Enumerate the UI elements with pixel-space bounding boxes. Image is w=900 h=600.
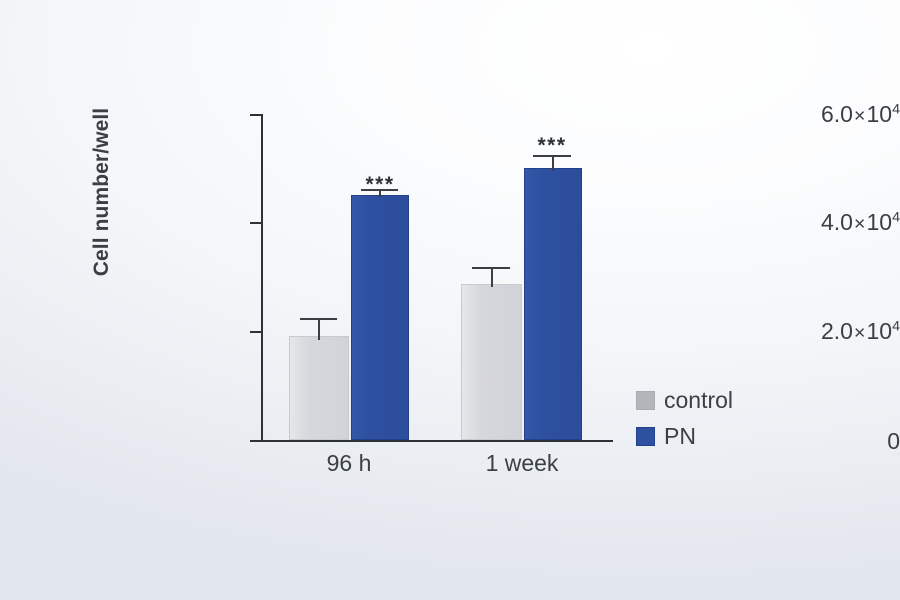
errorbar-stem-control-1week: [491, 267, 493, 287]
y-tick-times-20000: ×: [853, 322, 867, 344]
plot-area: 6.0×104 4.0×104 2.0×104 0 *** 96 h: [0, 0, 900, 600]
y-tick-exponent-20000: 4: [892, 318, 900, 334]
y-tick-mantissa-60000: 6.0: [821, 101, 853, 127]
y-tick-exponent-40000: 4: [892, 209, 900, 225]
errorbar-stem-control-96h: [318, 318, 320, 340]
bar-pn-1week[interactable]: [524, 168, 582, 440]
y-tick-mantissa-20000: 2.0: [821, 318, 853, 344]
errorbar-cap-control-1week: [472, 267, 510, 269]
y-tick-mantissa-40000: 4.0: [821, 209, 853, 235]
significance-marker-pn-1week: ***: [522, 135, 582, 156]
legend-swatch-control-icon: [636, 391, 655, 410]
y-tick-label-20000: 2.0×104: [655, 320, 900, 344]
figure-bar-chart: Cell number/well 6.0×104 4.0×104 2.0×104…: [0, 0, 900, 600]
y-tick-exponent-60000: 4: [892, 101, 900, 117]
y-tick-mark-20000: [250, 331, 261, 333]
y-tick-mark-60000: [250, 114, 261, 116]
bar-pn-96h[interactable]: [351, 195, 409, 440]
legend-item-pn[interactable]: PN: [636, 418, 733, 454]
x-axis-line: [250, 440, 613, 442]
y-tick-base-60000: 10: [866, 101, 892, 127]
errorbar-cap-control-96h: [300, 318, 337, 320]
bar-control-96h[interactable]: [289, 336, 349, 440]
legend-swatch-pn-icon: [636, 427, 655, 446]
bar-control-1week[interactable]: [461, 284, 522, 440]
y-tick-label-60000: 6.0×104: [655, 103, 900, 127]
significance-marker-pn-96h: ***: [350, 174, 410, 195]
x-category-label-96h: 96 h: [279, 452, 419, 475]
legend-item-control[interactable]: control: [636, 382, 733, 418]
errorbar-stem-pn-1week: [552, 155, 554, 171]
y-tick-base-20000: 10: [866, 318, 892, 344]
y-tick-label-40000: 4.0×104: [655, 211, 900, 235]
y-tick-base-40000: 10: [866, 209, 892, 235]
y-tick-times-60000: ×: [853, 105, 867, 127]
x-category-label-1week: 1 week: [452, 452, 592, 475]
legend-label-control: control: [664, 389, 733, 412]
y-tick-mark-40000: [250, 222, 261, 224]
y-axis-line: [261, 114, 263, 442]
y-tick-times-40000: ×: [853, 213, 867, 235]
legend-label-pn: PN: [664, 425, 696, 448]
legend: control PN: [636, 382, 733, 454]
